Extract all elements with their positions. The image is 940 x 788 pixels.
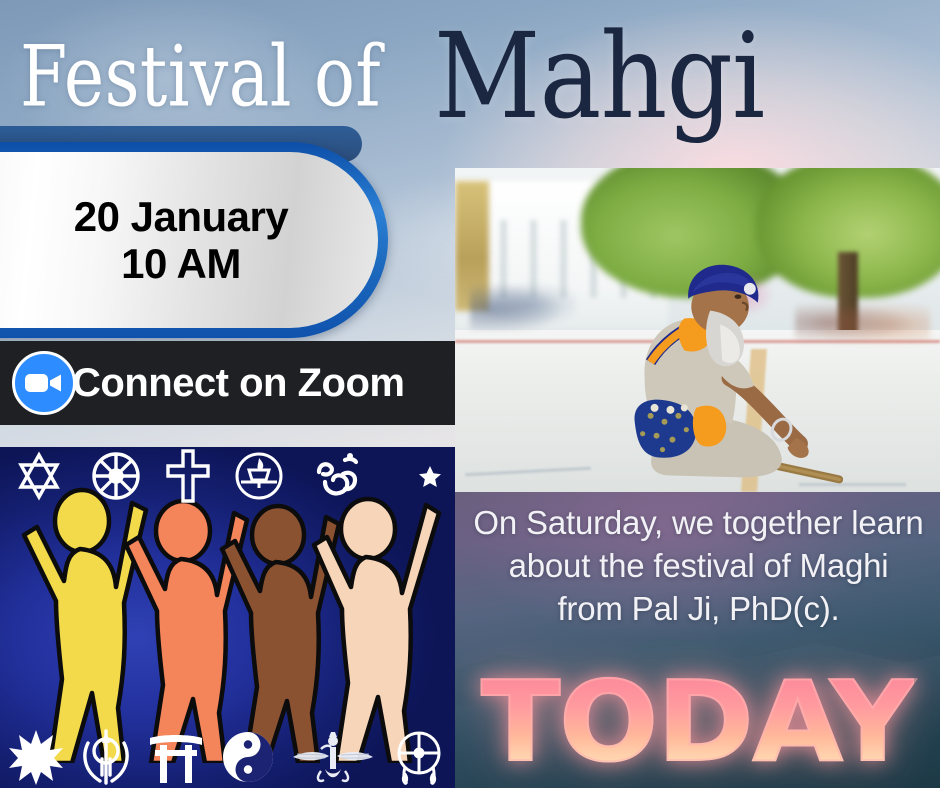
date-badge: 20 January 10 AM xyxy=(0,142,388,338)
zoom-logo-badge xyxy=(12,351,76,415)
zoom-button-label: Connect on Zoom xyxy=(72,361,404,406)
event-date: 20 January xyxy=(74,193,288,240)
photo-background-people-left xyxy=(470,278,577,330)
title-part-mahgi: Mahgi xyxy=(434,17,764,135)
nine-pointed-star-icon xyxy=(8,729,64,785)
gurdwara-photo xyxy=(455,168,940,492)
torii-gate-icon xyxy=(148,730,204,784)
faravahar-icon xyxy=(291,731,375,783)
star-and-crescent-icon xyxy=(389,450,443,502)
today-label: TODAY xyxy=(481,667,914,777)
video-camera-icon xyxy=(24,370,64,396)
dreamcatcher-icon xyxy=(391,729,447,785)
date-badge-inner: 20 January 10 AM xyxy=(0,152,378,328)
yin-yang-icon xyxy=(221,730,275,784)
religious-symbols-top-row xyxy=(0,447,455,505)
star-of-david-icon xyxy=(12,451,66,501)
connect-on-zoom-button[interactable]: Connect on Zoom xyxy=(0,341,455,425)
event-time: 10 AM xyxy=(121,240,241,287)
om-icon xyxy=(309,450,365,502)
dharma-wheel-icon xyxy=(90,450,142,502)
khanda-icon xyxy=(80,729,132,785)
festival-poster: Festival of Mahgi 20 January 10 AM Conne… xyxy=(0,0,940,788)
event-description: On Saturday, we together learn about the… xyxy=(455,502,940,631)
today-banner: TODAY xyxy=(455,670,940,774)
seated-sikh-man xyxy=(591,259,843,492)
religious-symbols-bottom-row xyxy=(0,726,455,788)
figure-orange xyxy=(126,501,247,763)
title-part-festival-of: Festival of xyxy=(20,34,381,119)
figure-yellow xyxy=(24,490,146,763)
turban-pin xyxy=(744,283,756,295)
description-panel: On Saturday, we together learn about the… xyxy=(455,492,940,788)
interfaith-illustration-panel xyxy=(0,447,455,788)
unitarian-chalice-icon xyxy=(233,450,285,502)
diverse-people-figures xyxy=(6,483,450,763)
christian-cross-icon xyxy=(166,449,210,503)
man-eye xyxy=(734,294,741,298)
